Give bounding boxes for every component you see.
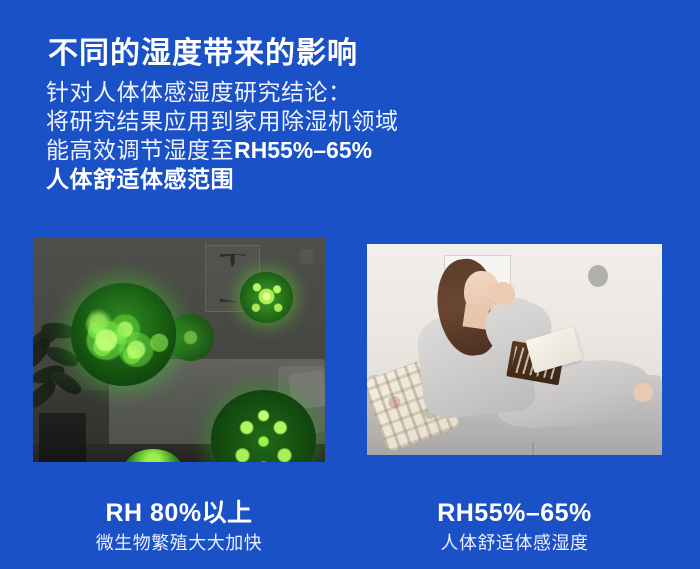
photo-high-humidity-germs [33, 238, 325, 462]
caption-sub-right: 人体舒适体感湿度 [367, 530, 662, 556]
caption-high-humidity: RH 80%以上 微生物繁殖大大加快 [33, 498, 325, 556]
humidity-infographic-poster: 不同的湿度带来的影响 针对人体体感湿度研究结论： 将研究结果应用到家用除湿机领域… [0, 0, 700, 569]
sofa-seam [532, 442, 534, 455]
caption-main-right: RH55%–65% [367, 498, 662, 528]
dim-room-scene [33, 238, 325, 462]
body-copy-line-3: 能高效调节湿度至RH55%–65% [46, 136, 399, 165]
humidity-range-emphasis: RH55%–65% [234, 137, 372, 163]
caption-comfort-humidity: RH55%–65% 人体舒适体感湿度 [367, 498, 662, 556]
germ-sphere-large [71, 283, 176, 386]
bright-room-scene [367, 244, 662, 455]
body-copy-line-2: 将研究结果应用到家用除湿机领域 [46, 107, 399, 136]
caption-sub-left: 微生物繁殖大大加快 [33, 530, 325, 556]
caption-main-left: RH 80%以上 [33, 498, 325, 528]
body-copy-block: 针对人体体感湿度研究结论： 将研究结果应用到家用除湿机领域 能高效调节湿度至RH… [46, 78, 399, 194]
body-copy-line-4: 人体舒适体感范围 [46, 165, 399, 194]
photo-comfort-humidity-woman [367, 244, 662, 455]
body-copy-line-1: 针对人体体感湿度研究结论： [46, 78, 399, 107]
page-title: 不同的湿度带来的影响 [48, 36, 358, 72]
germ-sphere-small-top [240, 272, 293, 324]
body-copy-line-3-prefix: 能高效调节湿度至 [46, 137, 234, 163]
